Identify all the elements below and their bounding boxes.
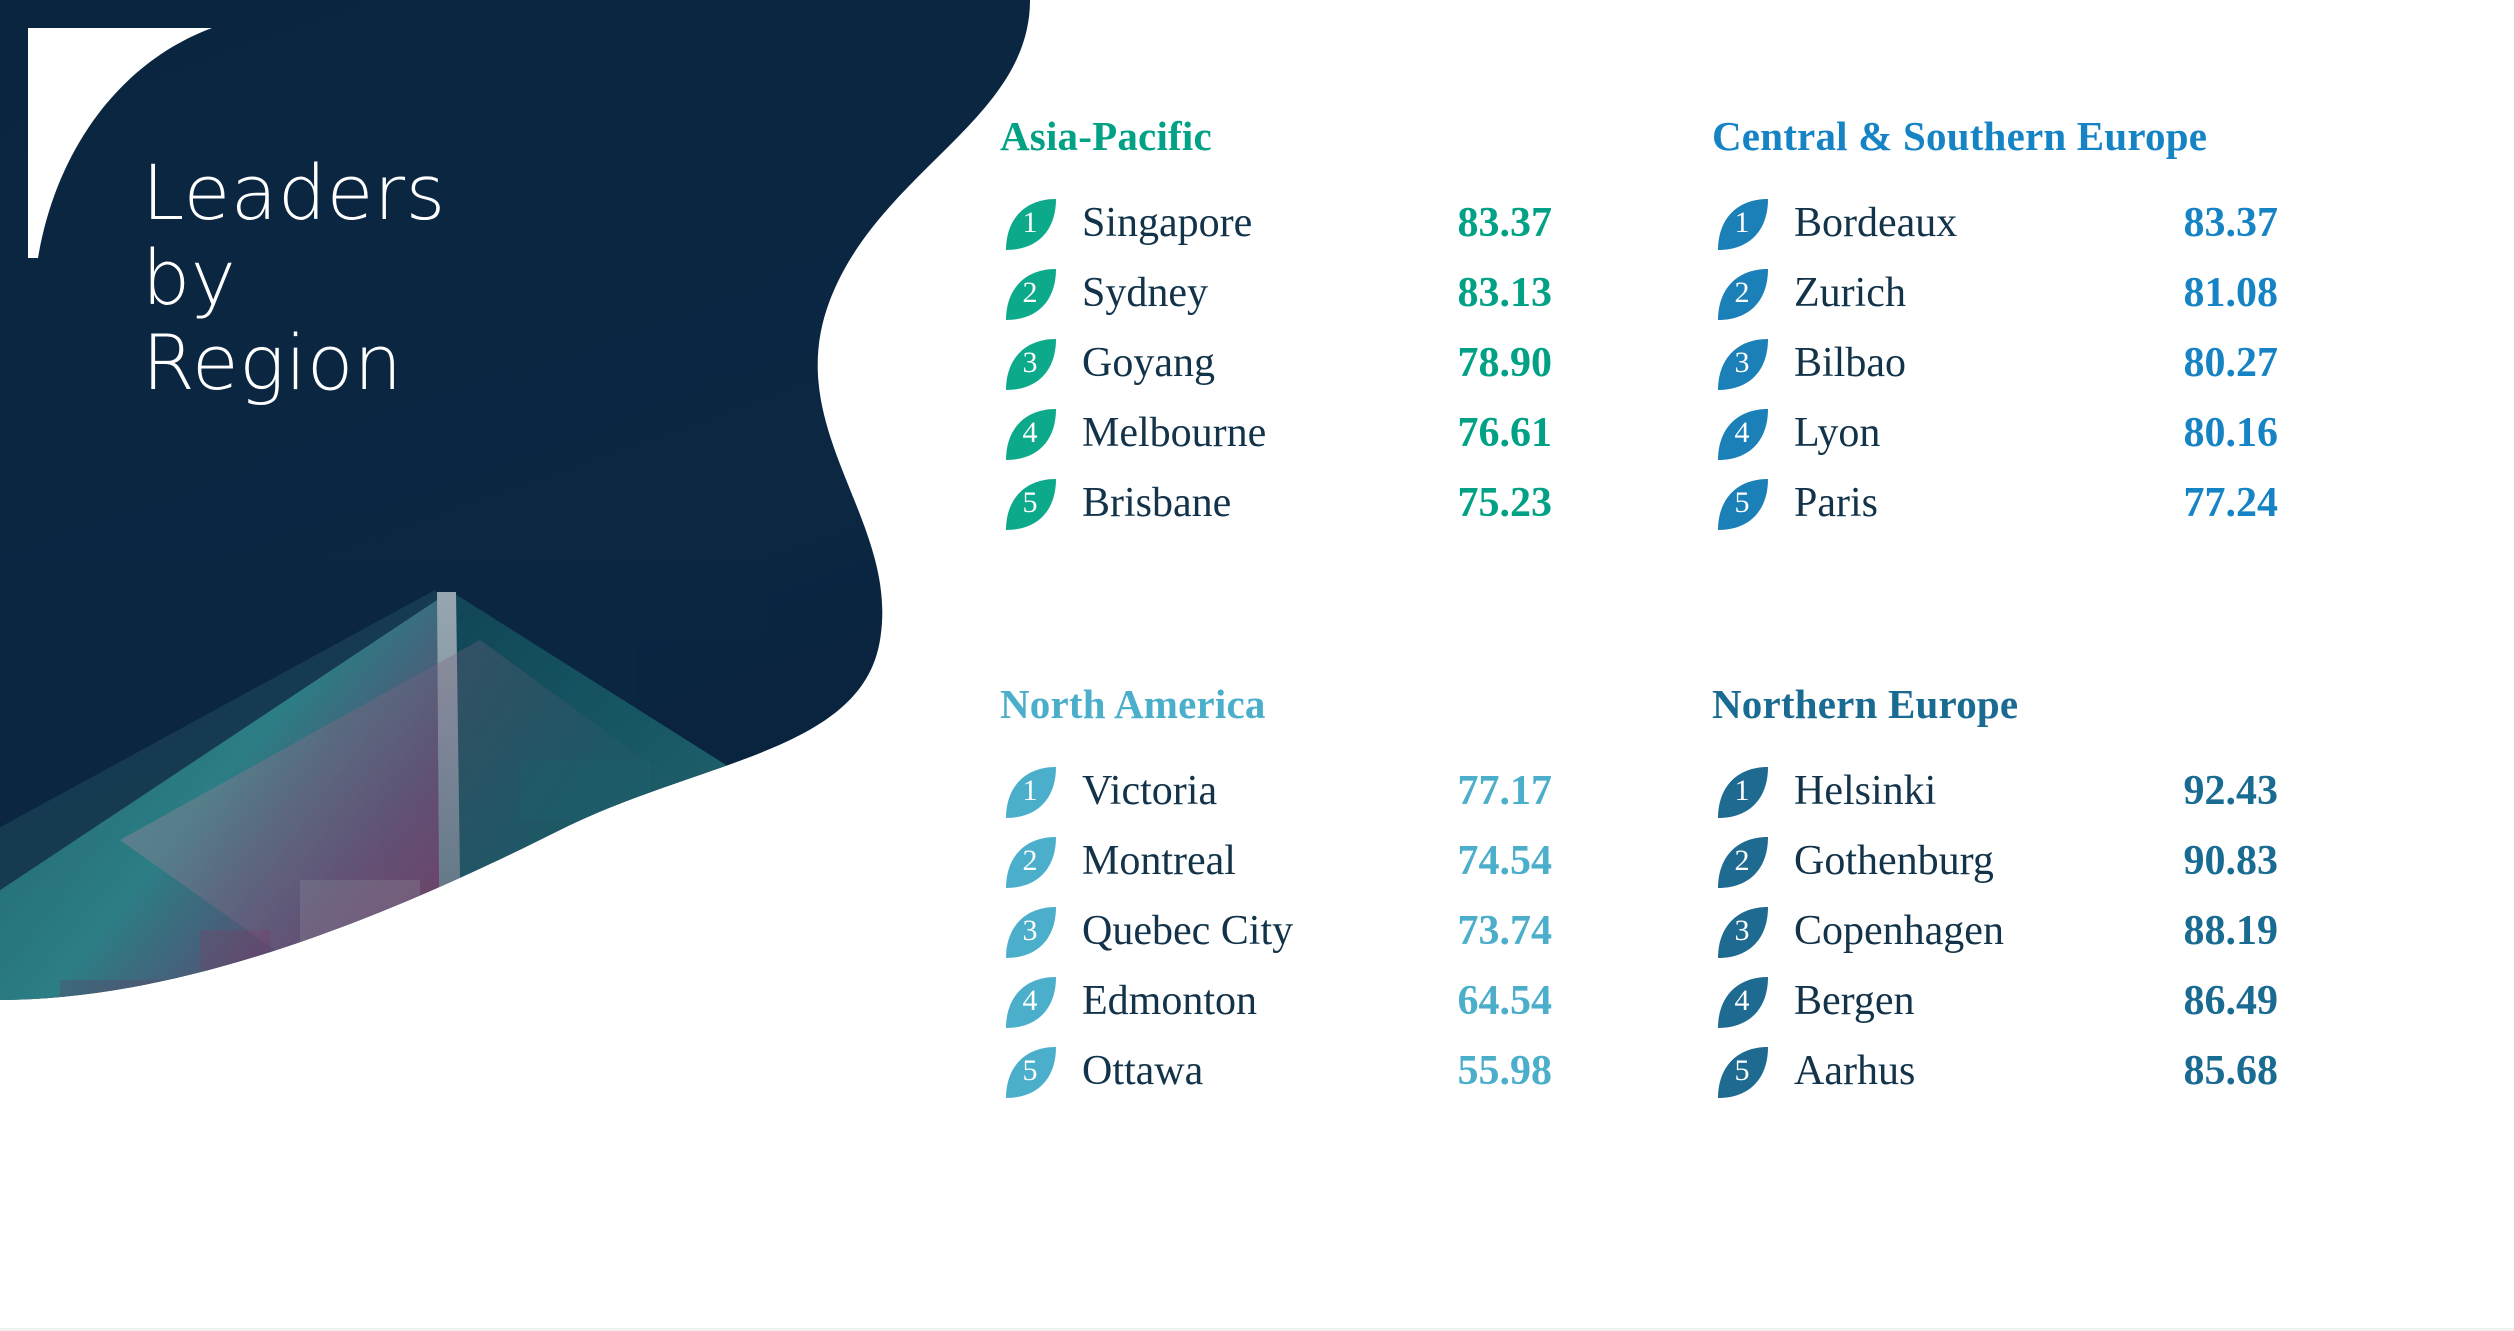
rank-badge-icon: 5 (1000, 1040, 1060, 1102)
title-line-1: Leaders (142, 150, 662, 235)
region-title-north-america: North America (1000, 680, 1712, 728)
rank-row[interactable]: 4 Edmonton 64.54 (1000, 966, 1712, 1036)
rank-number: 1 (1000, 760, 1056, 822)
rank-number: 5 (1712, 472, 1768, 534)
city-name: Copenhagen (1794, 907, 2128, 955)
city-score: 80.16 (2128, 409, 2278, 457)
rank-number: 1 (1712, 760, 1768, 822)
rank-badge-icon: 5 (1000, 472, 1060, 534)
title-line-3: Region (142, 320, 662, 405)
rank-number: 5 (1000, 472, 1056, 534)
city-score: 85.68 (2128, 1047, 2278, 1095)
rank-badge-icon: 2 (1000, 262, 1060, 324)
rank-number: 4 (1712, 970, 1768, 1032)
rank-number: 2 (1000, 830, 1056, 892)
city-name: Gothenburg (1794, 837, 2128, 885)
city-name: Paris (1794, 479, 2128, 527)
rank-number: 2 (1712, 262, 1768, 324)
rank-row[interactable]: 2 Gothenburg 90.83 (1712, 826, 2440, 896)
rank-badge-icon: 2 (1000, 830, 1060, 892)
rank-row[interactable]: 1 Singapore 83.37 (1000, 188, 1712, 258)
rank-badge-icon: 4 (1000, 970, 1060, 1032)
rank-badge-icon: 5 (1712, 1040, 1772, 1102)
city-name: Lyon (1794, 409, 2128, 457)
slide-root: Leaders by Region Asia-Pacific 1 Singapo… (0, 0, 2514, 1331)
city-name: Bergen (1794, 977, 2128, 1025)
page-title: Leaders by Region (142, 150, 662, 405)
city-score: 64.54 (1402, 977, 1552, 1025)
city-score: 76.61 (1402, 409, 1552, 457)
rank-badge-icon: 4 (1712, 970, 1772, 1032)
rank-number: 3 (1000, 900, 1056, 962)
rank-row[interactable]: 5 Paris 77.24 (1712, 468, 2440, 538)
city-score: 81.08 (2128, 269, 2278, 317)
region-title-central-southern-europe: Central & Southern Europe (1712, 112, 2440, 160)
city-score: 78.90 (1402, 339, 1552, 387)
rank-number: 4 (1000, 970, 1056, 1032)
rank-number: 3 (1712, 900, 1768, 962)
region-title-northern-europe: Northern Europe (1712, 680, 2440, 728)
city-score: 55.98 (1402, 1047, 1552, 1095)
city-name: Bilbao (1794, 339, 2128, 387)
city-name: Aarhus (1794, 1047, 2128, 1095)
rank-badge-icon: 1 (1000, 192, 1060, 254)
title-line-2: by (142, 235, 662, 320)
rank-number: 3 (1712, 332, 1768, 394)
city-name: Singapore (1082, 199, 1402, 247)
city-score: 92.43 (2128, 767, 2278, 815)
rank-row[interactable]: 3 Goyang 78.90 (1000, 328, 1712, 398)
city-name: Brisbane (1082, 479, 1402, 527)
rank-badge-icon: 3 (1712, 332, 1772, 394)
rank-row[interactable]: 1 Bordeaux 83.37 (1712, 188, 2440, 258)
rank-list-central-southern-europe: 1 Bordeaux 83.37 2 Zurich 81.08 (1712, 188, 2440, 538)
abstract-prism-graphic (0, 560, 1120, 1331)
city-score: 83.37 (2128, 199, 2278, 247)
city-score: 83.13 (1402, 269, 1552, 317)
rank-badge-icon: 3 (1000, 900, 1060, 962)
region-block-north-america: North America 1 Victoria 77.17 2 Montrea… (1000, 680, 1712, 1248)
city-name: Montreal (1082, 837, 1402, 885)
rank-row[interactable]: 5 Brisbane 75.23 (1000, 468, 1712, 538)
city-name: Edmonton (1082, 977, 1402, 1025)
rank-row[interactable]: 2 Montreal 74.54 (1000, 826, 1712, 896)
city-name: Goyang (1082, 339, 1402, 387)
rank-number: 5 (1712, 1040, 1768, 1102)
rank-row[interactable]: 4 Bergen 86.49 (1712, 966, 2440, 1036)
rank-badge-icon: 2 (1712, 262, 1772, 324)
rank-row[interactable]: 3 Copenhagen 88.19 (1712, 896, 2440, 966)
region-block-asia-pacific: Asia-Pacific 1 Singapore 83.37 2 Sydney (1000, 112, 1712, 680)
city-score: 80.27 (2128, 339, 2278, 387)
rank-row[interactable]: 3 Bilbao 80.27 (1712, 328, 2440, 398)
city-name: Sydney (1082, 269, 1402, 317)
regions-grid: Asia-Pacific 1 Singapore 83.37 2 Sydney (1000, 112, 2440, 1242)
city-name: Quebec City (1082, 907, 1402, 955)
rank-row[interactable]: 5 Ottawa 55.98 (1000, 1036, 1712, 1106)
city-score: 75.23 (1402, 479, 1552, 527)
city-name: Helsinki (1794, 767, 2128, 815)
rank-badge-icon: 1 (1000, 760, 1060, 822)
rank-badge-icon: 3 (1712, 900, 1772, 962)
city-score: 77.24 (2128, 479, 2278, 527)
rank-number: 1 (1712, 192, 1768, 254)
rank-list-northern-europe: 1 Helsinki 92.43 2 Gothenburg 90.83 (1712, 756, 2440, 1106)
city-name: Zurich (1794, 269, 2128, 317)
rank-row[interactable]: 4 Melbourne 76.61 (1000, 398, 1712, 468)
city-score: 90.83 (2128, 837, 2278, 885)
rank-badge-icon: 1 (1712, 760, 1772, 822)
region-title-asia-pacific: Asia-Pacific (1000, 112, 1712, 160)
rank-row[interactable]: 2 Zurich 81.08 (1712, 258, 2440, 328)
city-name: Victoria (1082, 767, 1402, 815)
rank-number: 3 (1000, 332, 1056, 394)
rank-number: 1 (1000, 192, 1056, 254)
rank-list-north-america: 1 Victoria 77.17 2 Montreal 74.54 (1000, 756, 1712, 1106)
rank-badge-icon: 5 (1712, 472, 1772, 534)
rank-number: 2 (1000, 262, 1056, 324)
rank-number: 5 (1000, 1040, 1056, 1102)
rank-number: 2 (1712, 830, 1768, 892)
rank-row[interactable]: 4 Lyon 80.16 (1712, 398, 2440, 468)
rank-badge-icon: 1 (1712, 192, 1772, 254)
city-score: 74.54 (1402, 837, 1552, 885)
rank-badge-icon: 4 (1712, 402, 1772, 464)
region-block-central-southern-europe: Central & Southern Europe 1 Bordeaux 83.… (1712, 112, 2440, 680)
city-score: 73.74 (1402, 907, 1552, 955)
rank-row[interactable]: 1 Victoria 77.17 (1000, 756, 1712, 826)
rank-badge-icon: 3 (1000, 332, 1060, 394)
city-name: Bordeaux (1794, 199, 2128, 247)
rank-row[interactable]: 3 Quebec City 73.74 (1000, 896, 1712, 966)
city-name: Melbourne (1082, 409, 1402, 457)
rank-badge-icon: 4 (1000, 402, 1060, 464)
region-block-northern-europe: Northern Europe 1 Helsinki 92.43 2 Gothe… (1712, 680, 2440, 1248)
city-name: Ottawa (1082, 1047, 1402, 1095)
rank-number: 4 (1712, 402, 1768, 464)
rank-number: 4 (1000, 402, 1056, 464)
city-score: 88.19 (2128, 907, 2278, 955)
city-score: 77.17 (1402, 767, 1552, 815)
rank-row[interactable]: 2 Sydney 83.13 (1000, 258, 1712, 328)
rank-list-asia-pacific: 1 Singapore 83.37 2 Sydney 83.13 (1000, 188, 1712, 538)
rank-badge-icon: 2 (1712, 830, 1772, 892)
rank-row[interactable]: 5 Aarhus 85.68 (1712, 1036, 2440, 1106)
city-score: 83.37 (1402, 199, 1552, 247)
city-score: 86.49 (2128, 977, 2278, 1025)
rank-row[interactable]: 1 Helsinki 92.43 (1712, 756, 2440, 826)
